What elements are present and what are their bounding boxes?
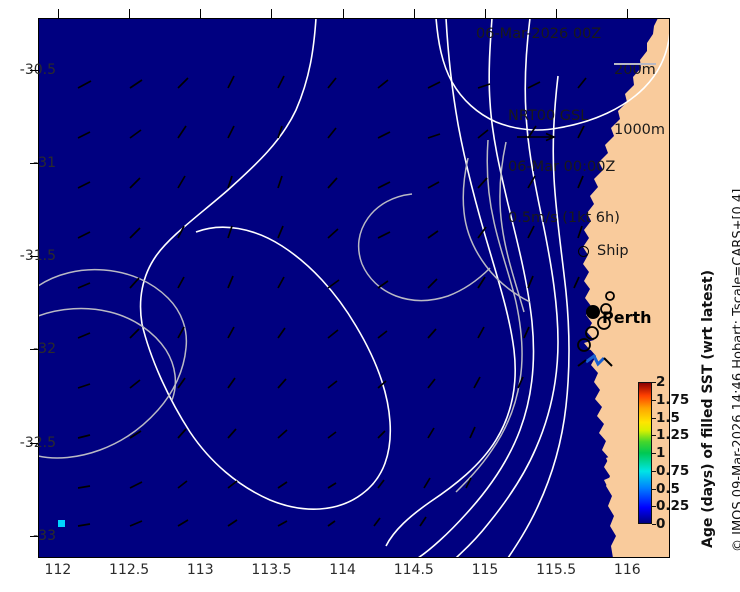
colorbar [638, 382, 652, 524]
x-tick-mark-top [271, 9, 272, 17]
vector-key-model: NRT00 GSL [508, 108, 620, 125]
x-tick-label: 116 [614, 562, 641, 578]
x-tick-mark-top [627, 9, 628, 17]
y-tick-mark [30, 256, 38, 257]
x-tick-label: 113 [187, 562, 214, 578]
vector-key-scale: 0.5m/s (1kt 6h) [508, 210, 620, 227]
vector-key-time: 06-Mar 00:00Z [508, 159, 620, 176]
colorbar-tick-label: 1.75 [656, 392, 689, 408]
y-tick-mark [30, 70, 38, 71]
x-tick-mark-top [200, 9, 201, 17]
colorbar-tick-label: 0.25 [656, 498, 689, 514]
colorbar-tick-label: 1.25 [656, 427, 689, 443]
x-tick-mark-top [129, 9, 130, 17]
x-tick-label: 113.5 [251, 562, 291, 578]
depth-key: 200m 1000m [614, 20, 665, 180]
figure-canvas: 06-Mar-2026 00Z 200m 1000m NRT00 GSL 06-… [0, 0, 740, 592]
ship-ring-icon [578, 246, 589, 257]
y-tick-mark [30, 536, 38, 537]
date-stamp: 06-Mar-2026 00Z [476, 26, 601, 43]
perth-city-label: Perth [602, 308, 652, 327]
x-tick-label: 115 [472, 562, 499, 578]
y-tick-mark [30, 349, 38, 350]
ship-legend-label: Ship [597, 243, 629, 259]
x-tick-label: 114 [329, 562, 356, 578]
colorbar-title: Age (days) of filled SST (wrt latest) [700, 270, 716, 548]
x-tick-mark-top [343, 9, 344, 17]
y-tick-mark [30, 163, 38, 164]
x-tick-mark-top [58, 9, 59, 17]
x-tick-mark-top [556, 9, 557, 17]
depth-key-sample-line [614, 63, 656, 65]
colorbar-tick-label: 0.75 [656, 463, 689, 479]
ship-legend: Ship [578, 243, 629, 259]
perth-city-marker[interactable] [586, 305, 600, 319]
x-tick-label: 115.5 [536, 562, 576, 578]
colorbar-tick-label: 1 [656, 445, 665, 461]
depth-key-1000m: 1000m [614, 120, 665, 140]
x-tick-label: 114.5 [394, 562, 434, 578]
x-tick-mark-top [485, 9, 486, 17]
vector-key: NRT00 GSL 06-Mar 00:00Z 0.5m/s (1kt 6h) [508, 74, 620, 261]
colorbar-tick-label: 2 [656, 374, 665, 390]
colorbar-tick-label: 0 [656, 516, 665, 532]
vector-scale-arrow-icon [516, 132, 558, 142]
x-tick-mark-top [414, 9, 415, 17]
x-tick-label: 112 [45, 562, 72, 578]
credit-text: © IMOS 09-Mar-2026 14:46 Hobart; Tscale=… [731, 189, 740, 552]
y-tick-mark [30, 443, 38, 444]
colorbar-tick-label: 1.5 [656, 410, 680, 426]
x-tick-label: 112.5 [109, 562, 149, 578]
colorbar-tick-label: 0.5 [656, 481, 680, 497]
